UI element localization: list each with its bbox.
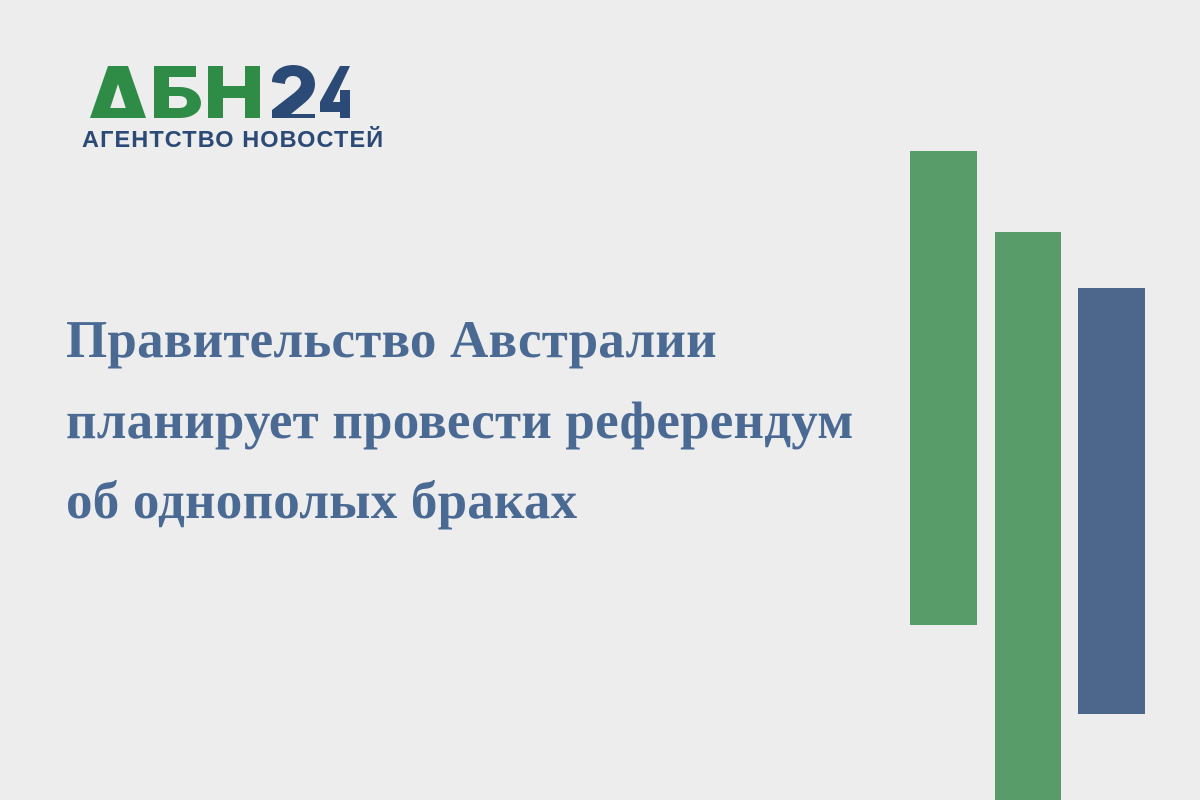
bar-chart-bar-3 [1078,288,1145,714]
bar-chart-bar-1 [910,151,977,625]
headline-text: Правительство Австралии планирует провес… [66,300,866,542]
poster-canvas: АГЕНТСТВО НОВОСТЕЙ Правительство Австрал… [0,0,1200,800]
abn24-logo-icon [82,62,352,122]
bar-chart-bar-2 [995,232,1061,800]
brand-tagline: АГЕНТСТВО НОВОСТЕЙ [82,128,372,152]
brand-logo[interactable]: АГЕНТСТВО НОВОСТЕЙ [82,62,372,152]
